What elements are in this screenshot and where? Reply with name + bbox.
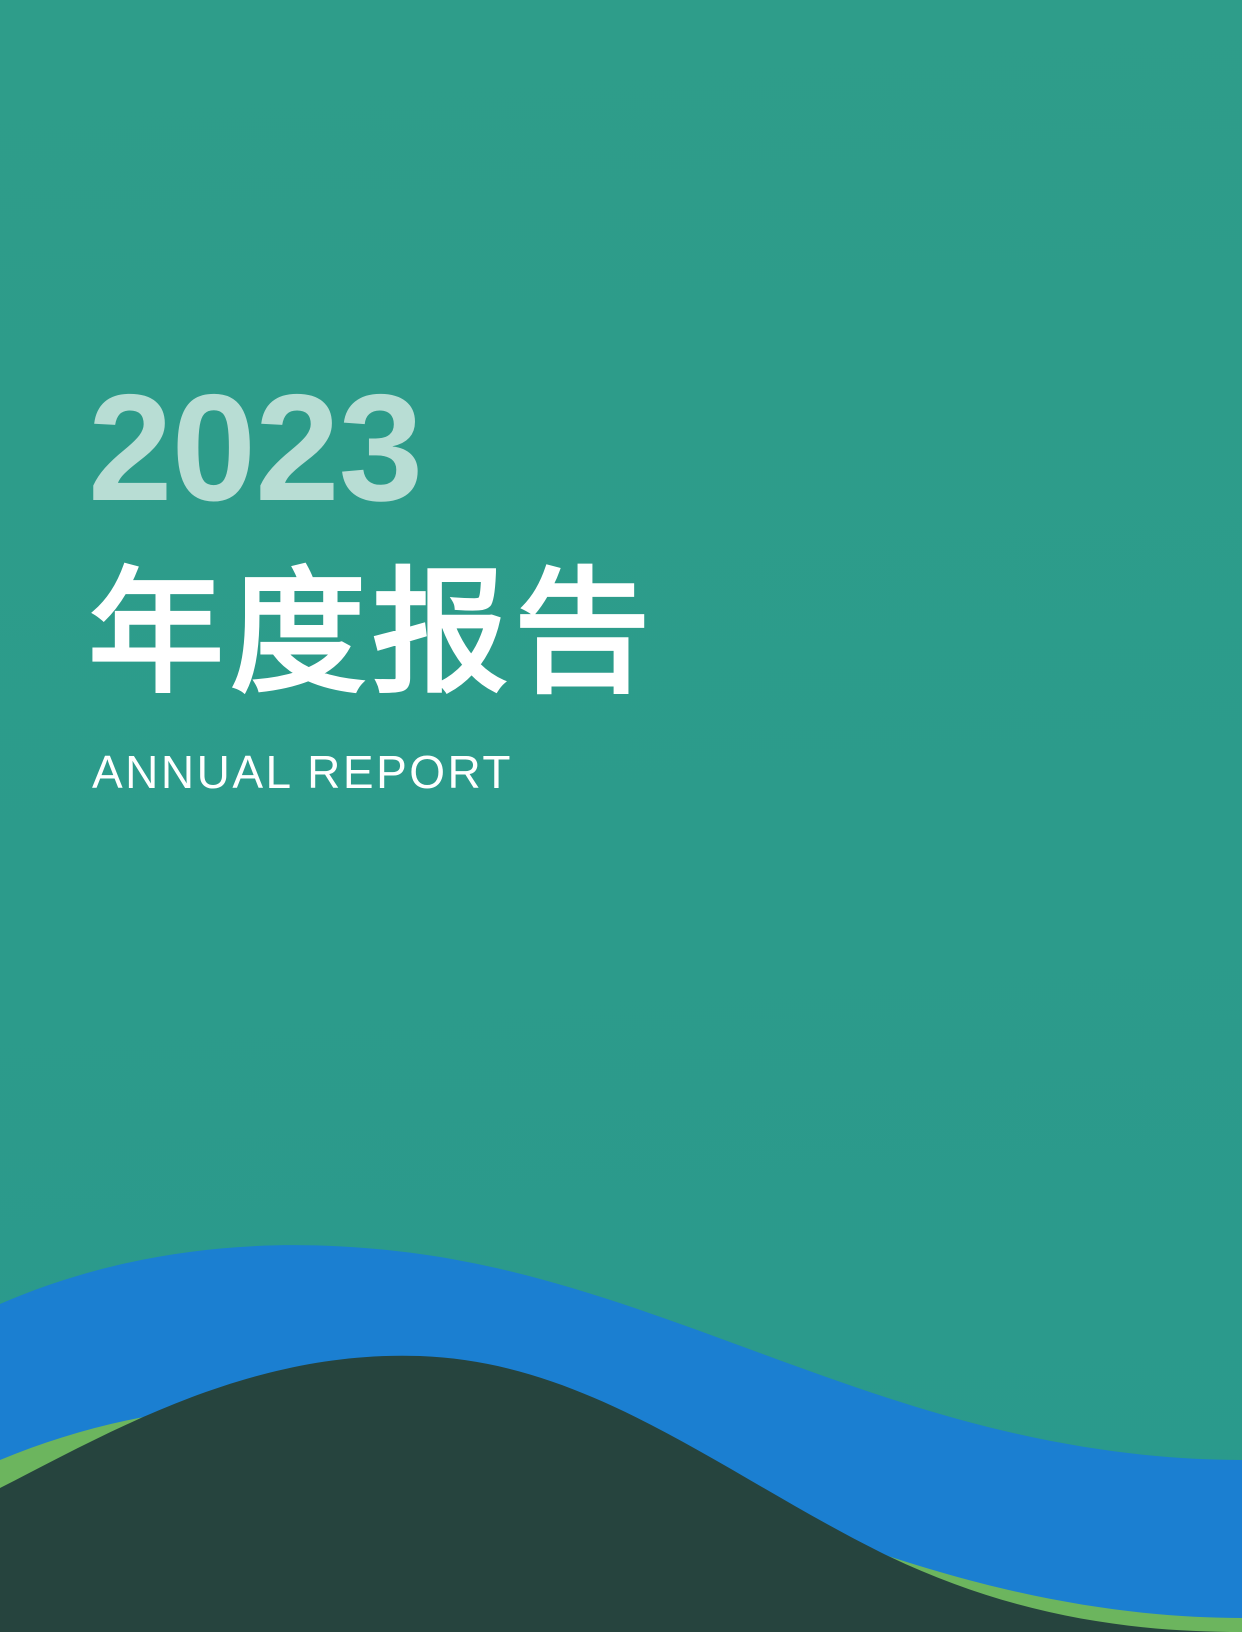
report-cover-page: 2023 年度报告 ANNUAL REPORT (0, 0, 1242, 1632)
wave-decoration-group (0, 932, 1242, 1632)
cover-subtitle-english: ANNUAL REPORT (92, 747, 908, 798)
cover-title-chinese: 年度报告 (88, 562, 908, 705)
cover-title-block: 2023 年度报告 ANNUAL REPORT (88, 372, 908, 797)
cover-year: 2023 (88, 372, 908, 524)
